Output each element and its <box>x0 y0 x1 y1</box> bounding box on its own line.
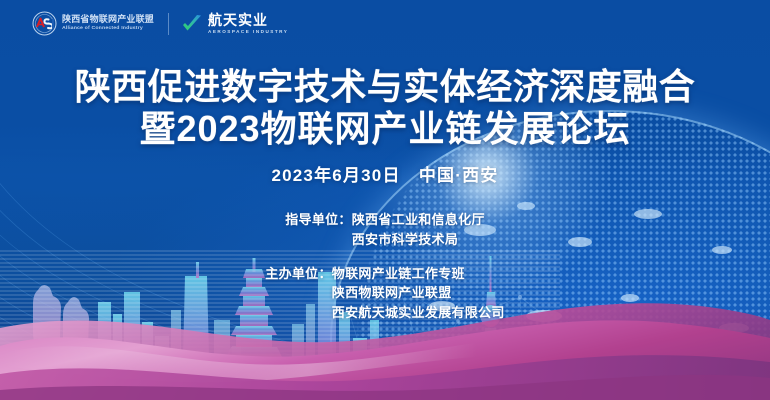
event-date-location: 2023年6月30日 中国·西安 <box>0 161 770 186</box>
logo-bar: 陕西省物联网产业联盟 Alliance of Connected Industr… <box>32 11 288 36</box>
aerospace-logo-cn: 航天实业 <box>208 13 288 27</box>
organizer-value: 西安航天城实业发展有限公司 <box>332 303 505 323</box>
logo-divider <box>168 13 169 35</box>
organizer-value: 西安市科学技术局 <box>352 230 485 250</box>
logo-aerospace[interactable]: 航天实业 AEROSPACE INDUSTRY <box>182 13 288 35</box>
organizer-block-host: 主办单位： 物联网产业链工作专班 陕西物联网产业联盟 西安航天城实业发展有限公司 <box>0 264 770 323</box>
organizer-block-guidance: 指导单位： 陕西省工业和信息化厅 西安市科学技术局 <box>0 210 770 250</box>
aerospace-swoosh-logo <box>182 14 202 34</box>
organizer-label: 指导单位： <box>285 210 352 230</box>
organizer-value: 陕西物联网产业联盟 <box>332 283 505 303</box>
organizer-label: 主办单位： <box>265 264 332 284</box>
organizer-value: 物联网产业链工作专班 <box>332 264 505 284</box>
organizer-value: 陕西省工业和信息化厅 <box>352 210 485 230</box>
aerospace-logo-en: AEROSPACE INDUSTRY <box>208 30 288 35</box>
organizer-section: 指导单位： 陕西省工业和信息化厅 西安市科学技术局 主办单位： 物联网产业链工作… <box>0 210 770 337</box>
asi-circle-logo <box>32 11 57 36</box>
logo-asi[interactable]: 陕西省物联网产业联盟 Alliance of Connected Industr… <box>32 11 154 36</box>
title-line-1: 陕西促进数字技术与实体经济深度融合 <box>0 66 770 108</box>
title-line-2: 暨2023物联网产业链发展论坛 <box>0 108 770 150</box>
conference-poster: 陕西省物联网产业联盟 Alliance of Connected Industr… <box>0 0 770 400</box>
asi-logo-cn: 陕西省物联网产业联盟 <box>62 15 154 24</box>
poster-title: 陕西促进数字技术与实体经济深度融合 暨2023物联网产业链发展论坛 <box>0 66 770 151</box>
asi-logo-en: Alliance of Connected Industry <box>62 27 154 32</box>
